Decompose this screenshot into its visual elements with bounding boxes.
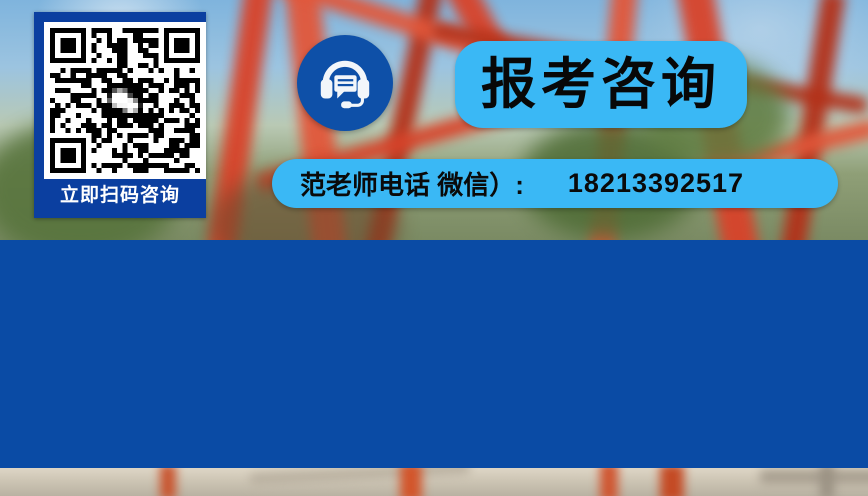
certificate-categories-panel: 特种作业： 电工证、焊工证、高处作业证、制冷作业、安全员证等 特种设备： 叉车证… — [0, 240, 868, 468]
qr-code-panel[interactable]: 立即扫码咨询 — [34, 12, 206, 218]
headset-support-badge — [297, 35, 393, 131]
advertisement-banner: 立即扫码咨询 报考咨询 范老师电话 微信）: 18213392517 特种作业：… — [0, 0, 868, 496]
title-pill: 报考咨询 — [455, 41, 747, 128]
page-title: 报考咨询 — [481, 57, 721, 112]
qr-caption-label: 立即扫码咨询 — [39, 174, 201, 213]
contact-phone-bar[interactable]: 范老师电话 微信）: 18213392517 — [272, 159, 838, 208]
qr-code-image-area — [44, 22, 206, 179]
contact-label: 范老师电话 微信）: — [300, 165, 524, 202]
wechat-qr-code-icon — [50, 28, 200, 173]
background-photo-bottom — [0, 468, 868, 496]
headset-support-icon — [314, 52, 376, 114]
contact-phone-number[interactable]: 18213392517 — [568, 168, 744, 199]
